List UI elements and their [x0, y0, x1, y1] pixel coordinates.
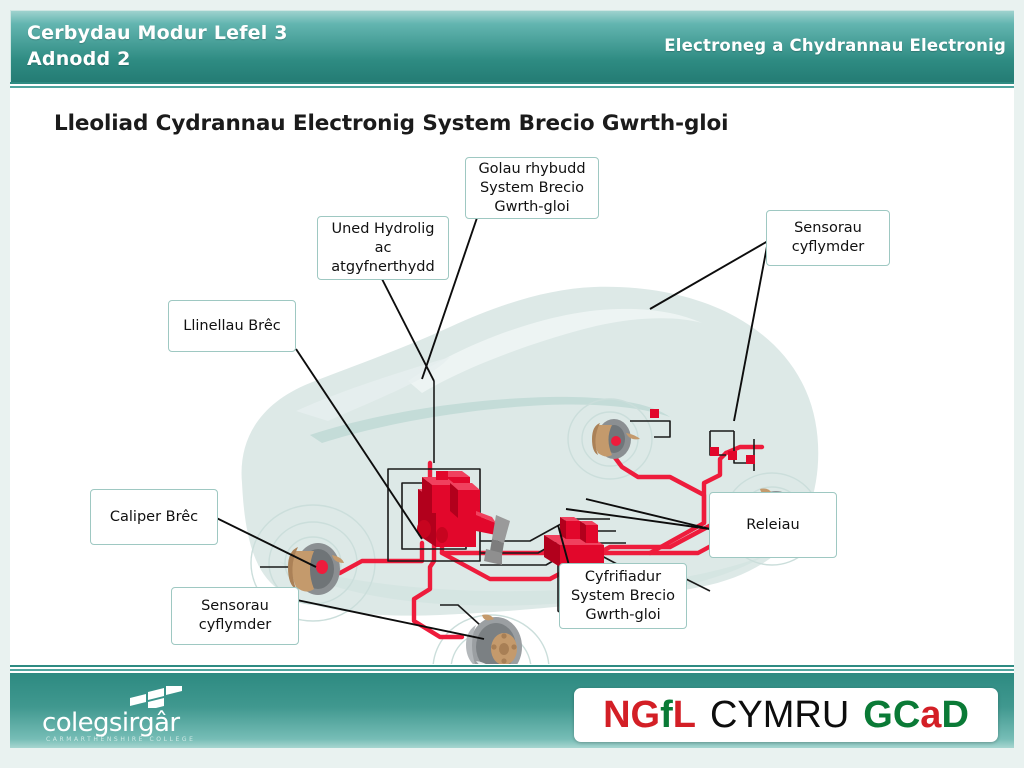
slide-root: Cerbydau Modur Lefel 3 Adnodd 2 Electron… [0, 0, 1024, 768]
slide-canvas: Lleoliad Cydrannau Electronig System Bre… [10, 91, 1014, 664]
callout-hydraulic-unit-line2: ac [331, 239, 434, 258]
callout-hydraulic-unit[interactable]: Uned Hydrolig ac atgyfnerthydd [317, 216, 449, 280]
ngfl-a: a [920, 694, 941, 736]
callout-speed-sensors-rear[interactable]: Sensorau cyflymder [766, 210, 890, 266]
brake-assembly-front-left [466, 615, 522, 665]
header-course-line1: Cerbydau Modur Lefel 3 [27, 20, 288, 46]
callout-abs-computer-line2: System Brecio [571, 587, 675, 606]
callout-warning-light-line3: Gwrth-gloi [478, 198, 585, 217]
ngfl-d: D [941, 694, 968, 736]
callout-brake-lines-line1: Llinellau Brêc [183, 317, 280, 336]
callout-abs-computer-line3: Gwrth-gloi [571, 606, 675, 625]
header-subject: Electroneg a Chydrannau Electronig [664, 36, 1006, 55]
callout-speed-sensors-rear-line1: Sensorau [792, 219, 864, 238]
ngfl-f: f [660, 694, 673, 736]
ngfl-l: L [673, 694, 696, 736]
coleg-sir-gar-logo: colegsirgâr CARMARTHENSHIRE COLLEGE [42, 690, 242, 746]
checkered-flag-icon [126, 686, 206, 708]
footer-divider [10, 664, 1014, 673]
coleg-subtitle: CARMARTHENSHIRE COLLEGE [46, 736, 196, 743]
header-course-line2: Adnodd 2 [27, 46, 288, 72]
ngfl-ng: NG [603, 694, 660, 736]
callout-speed-sensors-front[interactable]: Sensorau cyflymder [171, 587, 299, 645]
callout-hydraulic-unit-line1: Uned Hydrolig [331, 220, 434, 239]
callout-warning-light-line2: System Brecio [478, 179, 585, 198]
ngfl-gc: GC [863, 694, 920, 736]
callout-brake-caliper[interactable]: Caliper Brêc [90, 489, 218, 545]
coleg-wordmark: colegsirgâr [42, 708, 179, 738]
header-course-title: Cerbydau Modur Lefel 3 Adnodd 2 [27, 20, 288, 72]
callout-speed-sensors-front-line1: Sensorau [199, 597, 271, 616]
callout-warning-light-line1: Golau rhybudd [478, 160, 585, 179]
callout-relays[interactable]: Releiau [709, 492, 837, 558]
callout-speed-sensors-front-line2: cyflymder [199, 616, 271, 635]
callout-warning-light[interactable]: Golau rhybudd System Brecio Gwrth-gloi [465, 157, 599, 219]
callout-abs-computer[interactable]: Cyfrifiadur System Brecio Gwrth-gloi [559, 563, 687, 629]
callout-hydraulic-unit-line3: atgyfnerthydd [331, 258, 434, 277]
callout-brake-caliper-line1: Caliper Brêc [110, 508, 198, 527]
ngfl-cymru: CYMRU [710, 694, 849, 736]
ngfl-wordmark: NGfLCYMRUGCaD [603, 694, 969, 737]
callout-brake-lines[interactable]: Llinellau Brêc [168, 300, 296, 352]
header-divider [10, 82, 1014, 91]
callout-speed-sensors-rear-line2: cyflymder [792, 238, 864, 257]
ngfl-cymru-logo: NGfLCYMRUGCaD [574, 688, 998, 742]
callout-relays-line1: Releiau [746, 516, 799, 535]
callout-abs-computer-line1: Cyfrifiadur [571, 568, 675, 587]
